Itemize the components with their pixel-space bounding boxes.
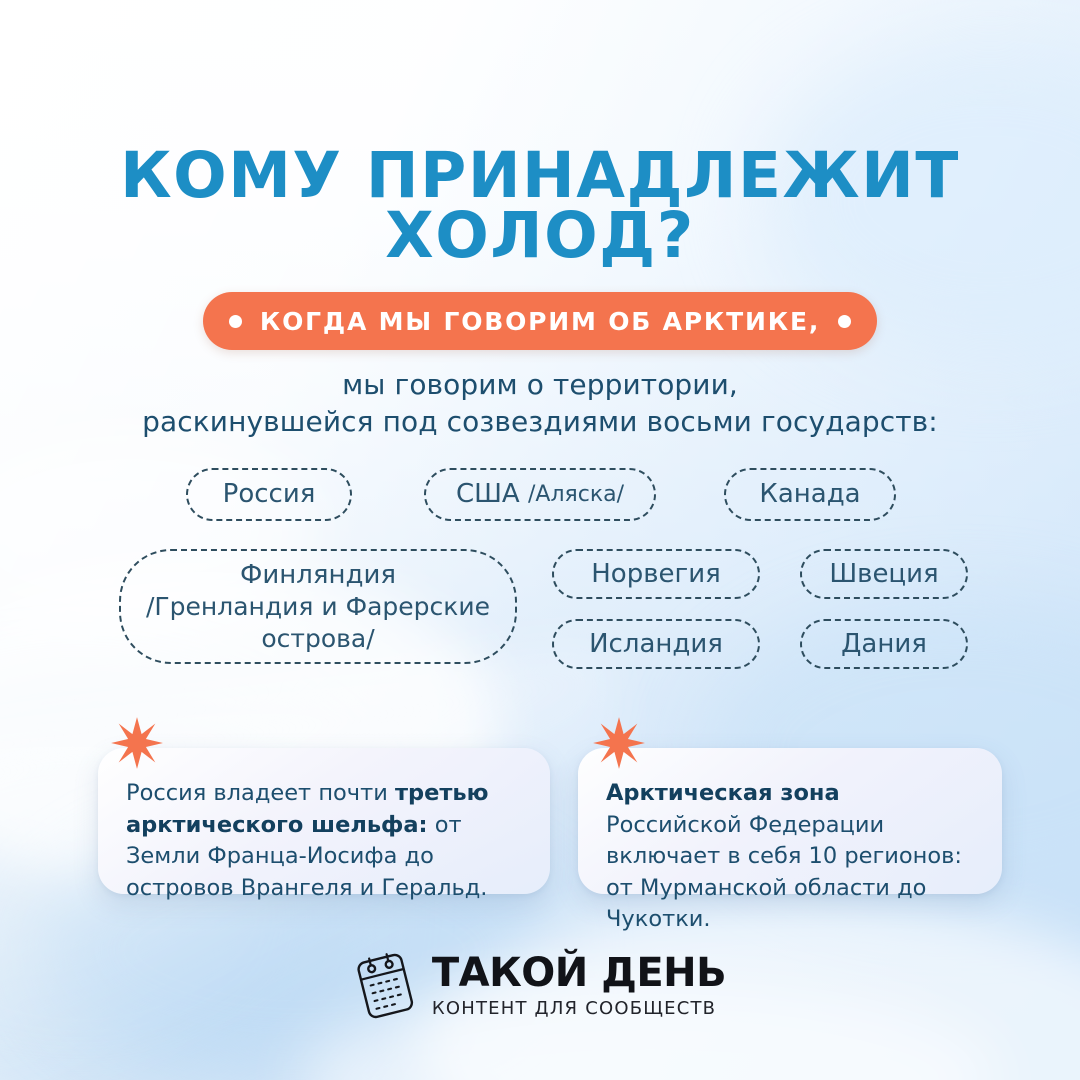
subtitle-line-2: раскинувшейся под созвездиями восьми гос… bbox=[0, 403, 1080, 440]
country-note-line-1: /Гренландия и Фарерские bbox=[146, 591, 490, 623]
fact-card-shelf: Россия владеет почти третью арктического… bbox=[98, 748, 550, 894]
country-label: Исландия bbox=[589, 628, 723, 661]
poster-canvas: КОМУ ПРИНАДЛЕЖИТ ХОЛОД? КОГДА МЫ ГОВОРИМ… bbox=[0, 0, 1080, 1080]
country-label: Канада bbox=[759, 478, 860, 511]
brand-name: ТАКОЙ ДЕНЬ bbox=[432, 952, 726, 994]
country-chip-norway: Норвегия bbox=[552, 549, 760, 599]
country-chip-russia: Россия bbox=[186, 468, 352, 521]
country-chip-iceland: Исландия bbox=[552, 619, 760, 669]
country-label: США bbox=[456, 478, 520, 511]
fact-text-bold: Арктическая зона bbox=[606, 780, 840, 806]
title-line-2: ХОЛОД? bbox=[0, 206, 1080, 266]
country-chip-finland: Финляндия /Гренландия и Фарерские остров… bbox=[119, 549, 517, 664]
page-title: КОМУ ПРИНАДЛЕЖИТ ХОЛОД? bbox=[0, 146, 1080, 266]
brand-tagline: КОНТЕНТ ДЛЯ СООБЩЕСТВ bbox=[432, 998, 716, 1019]
country-chip-denmark: Дания bbox=[800, 619, 968, 669]
country-label: Финляндия bbox=[240, 559, 396, 592]
section-banner: КОГДА МЫ ГОВОРИМ ОБ АРКТИКЕ, bbox=[203, 292, 877, 350]
country-chip-canada: Канада bbox=[724, 468, 896, 521]
fact-text-part: Российской Федерации включает в себя 10 … bbox=[606, 812, 962, 933]
section-banner-label: КОГДА МЫ ГОВОРИМ ОБ АРКТИКЕ, bbox=[242, 307, 838, 336]
country-chip-sweden: Швеция bbox=[800, 549, 968, 599]
country-label: Россия bbox=[223, 478, 316, 511]
brand-logo: ТАКОЙ ДЕНЬ КОНТЕНТ ДЛЯ СООБЩЕСТВ bbox=[0, 946, 1080, 1024]
country-label: Швеция bbox=[829, 558, 938, 591]
bullet-dot-icon bbox=[229, 315, 242, 328]
country-label: Норвегия bbox=[591, 558, 720, 591]
country-chip-usa: США /Аляска/ bbox=[424, 468, 656, 521]
country-label: Дания bbox=[841, 628, 927, 661]
country-note: /Аляска/ bbox=[528, 481, 624, 509]
fact-text-part: Россия владеет почти bbox=[126, 780, 395, 806]
bullet-dot-icon bbox=[838, 315, 851, 328]
calendar-icon bbox=[354, 946, 416, 1024]
subtitle: мы говорим о территории, раскинувшейся п… bbox=[0, 366, 1080, 440]
fact-card-zone: Арктическая зона Российской Федерации вк… bbox=[578, 748, 1002, 894]
country-note-line-2: острова/ bbox=[261, 623, 374, 655]
subtitle-line-1: мы говорим о территории, bbox=[0, 366, 1080, 403]
